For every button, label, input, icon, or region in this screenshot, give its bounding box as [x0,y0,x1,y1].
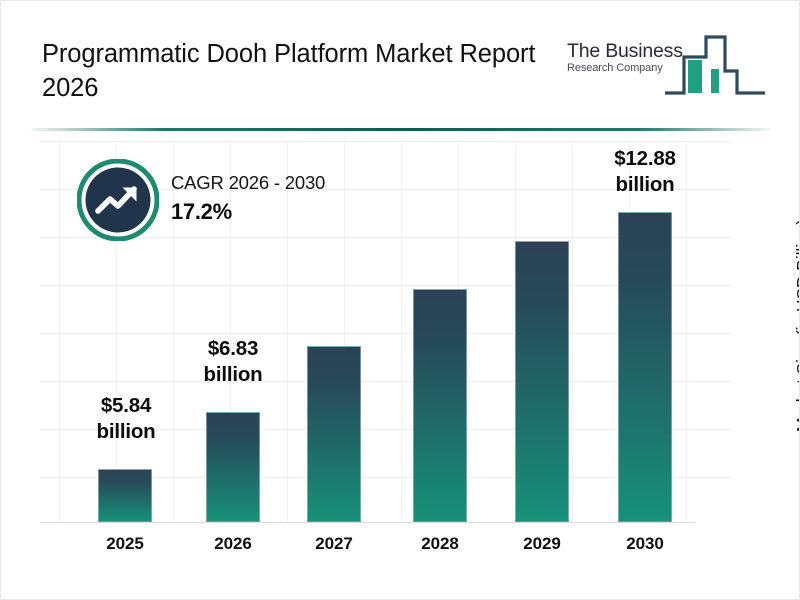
xtick-2028: 2028 [395,534,485,554]
value-label-2026: $6.83 billion [187,336,279,388]
xtick-2030: 2030 [600,534,690,554]
cagr-text-block: CAGR 2026 - 2030 17.2% [171,171,401,227]
trending-up-arrow-icon [77,159,159,241]
value-label-2030-amount: $12.88 [589,146,701,172]
value-label-2030-unit: billion [589,172,701,198]
value-label-2025-unit: billion [80,419,172,445]
chart-infographic-page: Programmatic Dooh Platform Market Report… [0,0,800,600]
cagr-value-label: 17.2% [171,197,401,227]
bar-2029[interactable] [515,241,569,522]
xtick-2026: 2026 [188,534,278,554]
page-title: Programmatic Dooh Platform Market Report… [42,37,552,105]
bar-2027[interactable] [307,346,361,522]
bar-2025[interactable] [98,469,152,522]
bar-2030[interactable] [618,212,672,522]
xtick-2027: 2027 [289,534,379,554]
header-divider [31,128,771,131]
header: Programmatic Dooh Platform Market Report… [1,1,800,129]
gridline-horizontal [40,141,730,142]
xtick-2025: 2025 [80,534,170,554]
company-logo: The Business Research Company [567,31,767,101]
xtick-2029: 2029 [497,534,587,554]
value-label-2026-unit: billion [187,362,279,388]
value-label-2025: $5.84 billion [80,393,172,445]
bar-2026[interactable] [206,412,260,522]
gridline-vertical [686,141,687,523]
value-label-2025-amount: $5.84 [80,393,172,419]
cagr-callout: CAGR 2026 - 2030 17.2% [77,159,407,244]
cagr-period-label: CAGR 2026 - 2030 [171,171,401,195]
gridline-vertical [59,141,60,523]
value-label-2026-amount: $6.83 [187,336,279,362]
bar-chart-skyline-logo-icon [665,31,767,106]
gridline-vertical [572,141,573,523]
y-axis-title: Market Size (in USD Billion) [793,219,800,432]
value-label-2030: $12.88 billion [589,146,701,198]
axis-baseline [40,522,695,523]
bar-2028[interactable] [413,289,467,522]
